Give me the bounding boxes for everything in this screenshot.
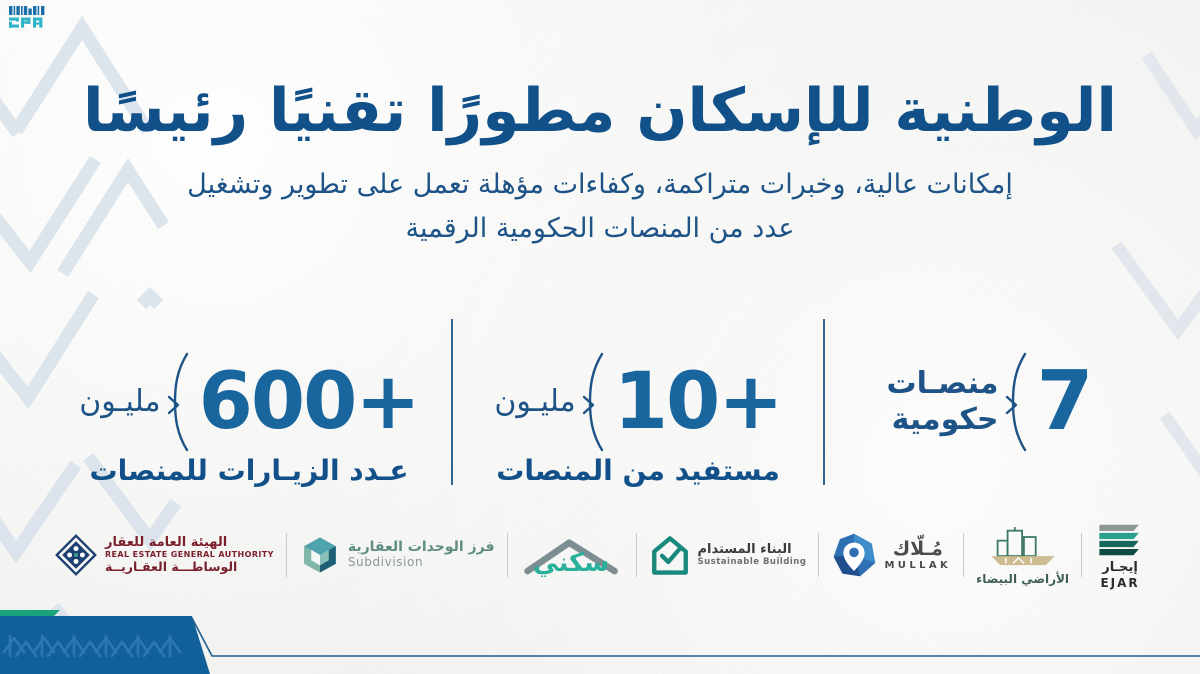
bracket-chevron-icon [1003,350,1033,454]
bracket-chevron-icon [165,350,195,454]
partner-logo-mullak: مُـلّاك MULLAK [819,524,963,586]
sakani-roof-icon: سكني [520,533,624,577]
sustainable-building-wordmark: البناء المستدام Sustainable Building [698,543,807,567]
subdivision-wordmark: فرز الوحدات العقارية Subdivision [348,540,495,569]
stat-value-platform-visits: 600+ [199,365,419,439]
stat-unit-platform-visits: مليـون [79,384,160,420]
stat-unit-platform-beneficiaries: مليـون [494,384,575,420]
stat-caption-government-platforms: منصـات حكومية [886,366,998,438]
subtitle-line-1: إمكانات عالية، وخبرات متراكمة، وكفاءات م… [160,163,1040,207]
stat-caption-platform-visits: مليـون [79,384,160,420]
stat-platform-beneficiaries: 10+ مليـون مستفيد من المنصات [469,312,807,492]
partner-logo-sustainable-building: البناء المستدام Sustainable Building [637,524,819,586]
infographic-canvas: الوطنية للإسكان مطورًا تقنيًا رئيسًا إمك… [0,0,1200,674]
sustainable-building-name-ar: البناء المستدام [698,543,792,558]
partner-logo-sakani: سكني [508,524,636,586]
stat-label-platform-beneficiaries: مستفيد من المنصات [469,454,807,488]
statistics-row: 7 منصـات حكومية 10+ [0,312,1200,492]
rega-name-ar: الهيئة العامة للعقار [105,536,227,551]
mullak-name-en: MULLAK [884,560,951,571]
spa-agency-logo [8,4,52,30]
white-land-lockup: الأراضي البيضاء [976,525,1069,586]
rega-wordmark: الهيئة العامة للعقار REAL ESTATE GENERAL… [105,536,274,574]
stat-unit-line-1: منصـات [886,366,998,402]
bottom-decorative-banner [0,600,1200,674]
svg-text:سكني: سكني [532,548,608,577]
partner-logo-strip: الهيئة العامة للعقار REAL ESTATE GENERAL… [0,518,1200,592]
partner-logo-white-land: الأراضي البيضاء [964,524,1081,586]
partner-logo-real-estate-general-authority: الهيئة العامة للعقار REAL ESTATE GENERAL… [42,524,286,586]
ejar-name-ar: إيجـار [1102,560,1138,575]
stat-caption-platform-beneficiaries: مليـون [494,384,575,420]
stat-divider-2 [451,319,453,485]
stat-label-platform-visits: عـدد الزيـارات للمنصات [63,454,435,488]
ejar-stripes-icon [1094,521,1146,559]
rega-name-ar-secondary: الوساطـــة العقـاريــة [105,560,237,574]
stat-value-platform-beneficiaries: 10+ [614,365,782,439]
mullak-wordmark: مُـلّاك MULLAK [884,539,951,571]
bracket-chevron-icon [580,350,610,454]
subdivision-cube-icon [299,534,341,576]
white-land-name-ar: الأراضي البيضاء [976,572,1069,586]
sustainable-building-house-check-icon [649,534,691,576]
white-land-skyline-icon [984,525,1062,569]
page-title: الوطنية للإسكان مطورًا تقنيًا رئيسًا [0,78,1200,145]
sustainable-building-name-en: Sustainable Building [698,558,807,568]
mullak-name-ar: مُـلّاك [893,539,943,560]
stat-government-platforms: 7 منصـات حكومية [841,312,1137,492]
partner-logo-ejar: إيجـار EJAR [1082,524,1158,586]
partner-logo-subdivision: فرز الوحدات العقارية Subdivision [287,524,507,586]
ejar-lockup: إيجـار EJAR [1094,521,1146,590]
stat-value-government-platforms: 7 [1037,363,1092,441]
stat-platform-visits: 600+ مليـون عـدد الزيـارات للمنصات [63,312,435,492]
subdivision-name-en: Subdivision [348,556,423,569]
headline-block: الوطنية للإسكان مطورًا تقنيًا رئيسًا إمك… [0,78,1200,251]
page-subtitle: إمكانات عالية، وخبرات متراكمة، وكفاءات م… [160,163,1040,250]
subtitle-line-2: عدد من المنصات الحكومية الرقمية [160,207,1040,251]
ejar-name-en: EJAR [1100,576,1139,590]
subdivision-name-ar: فرز الوحدات العقارية [348,540,495,556]
mullak-pin-hexagon-icon [831,532,877,578]
stat-divider-1 [823,319,825,485]
stat-unit-line-2: حكومية [892,402,999,438]
rega-diamond-icon [54,533,98,577]
